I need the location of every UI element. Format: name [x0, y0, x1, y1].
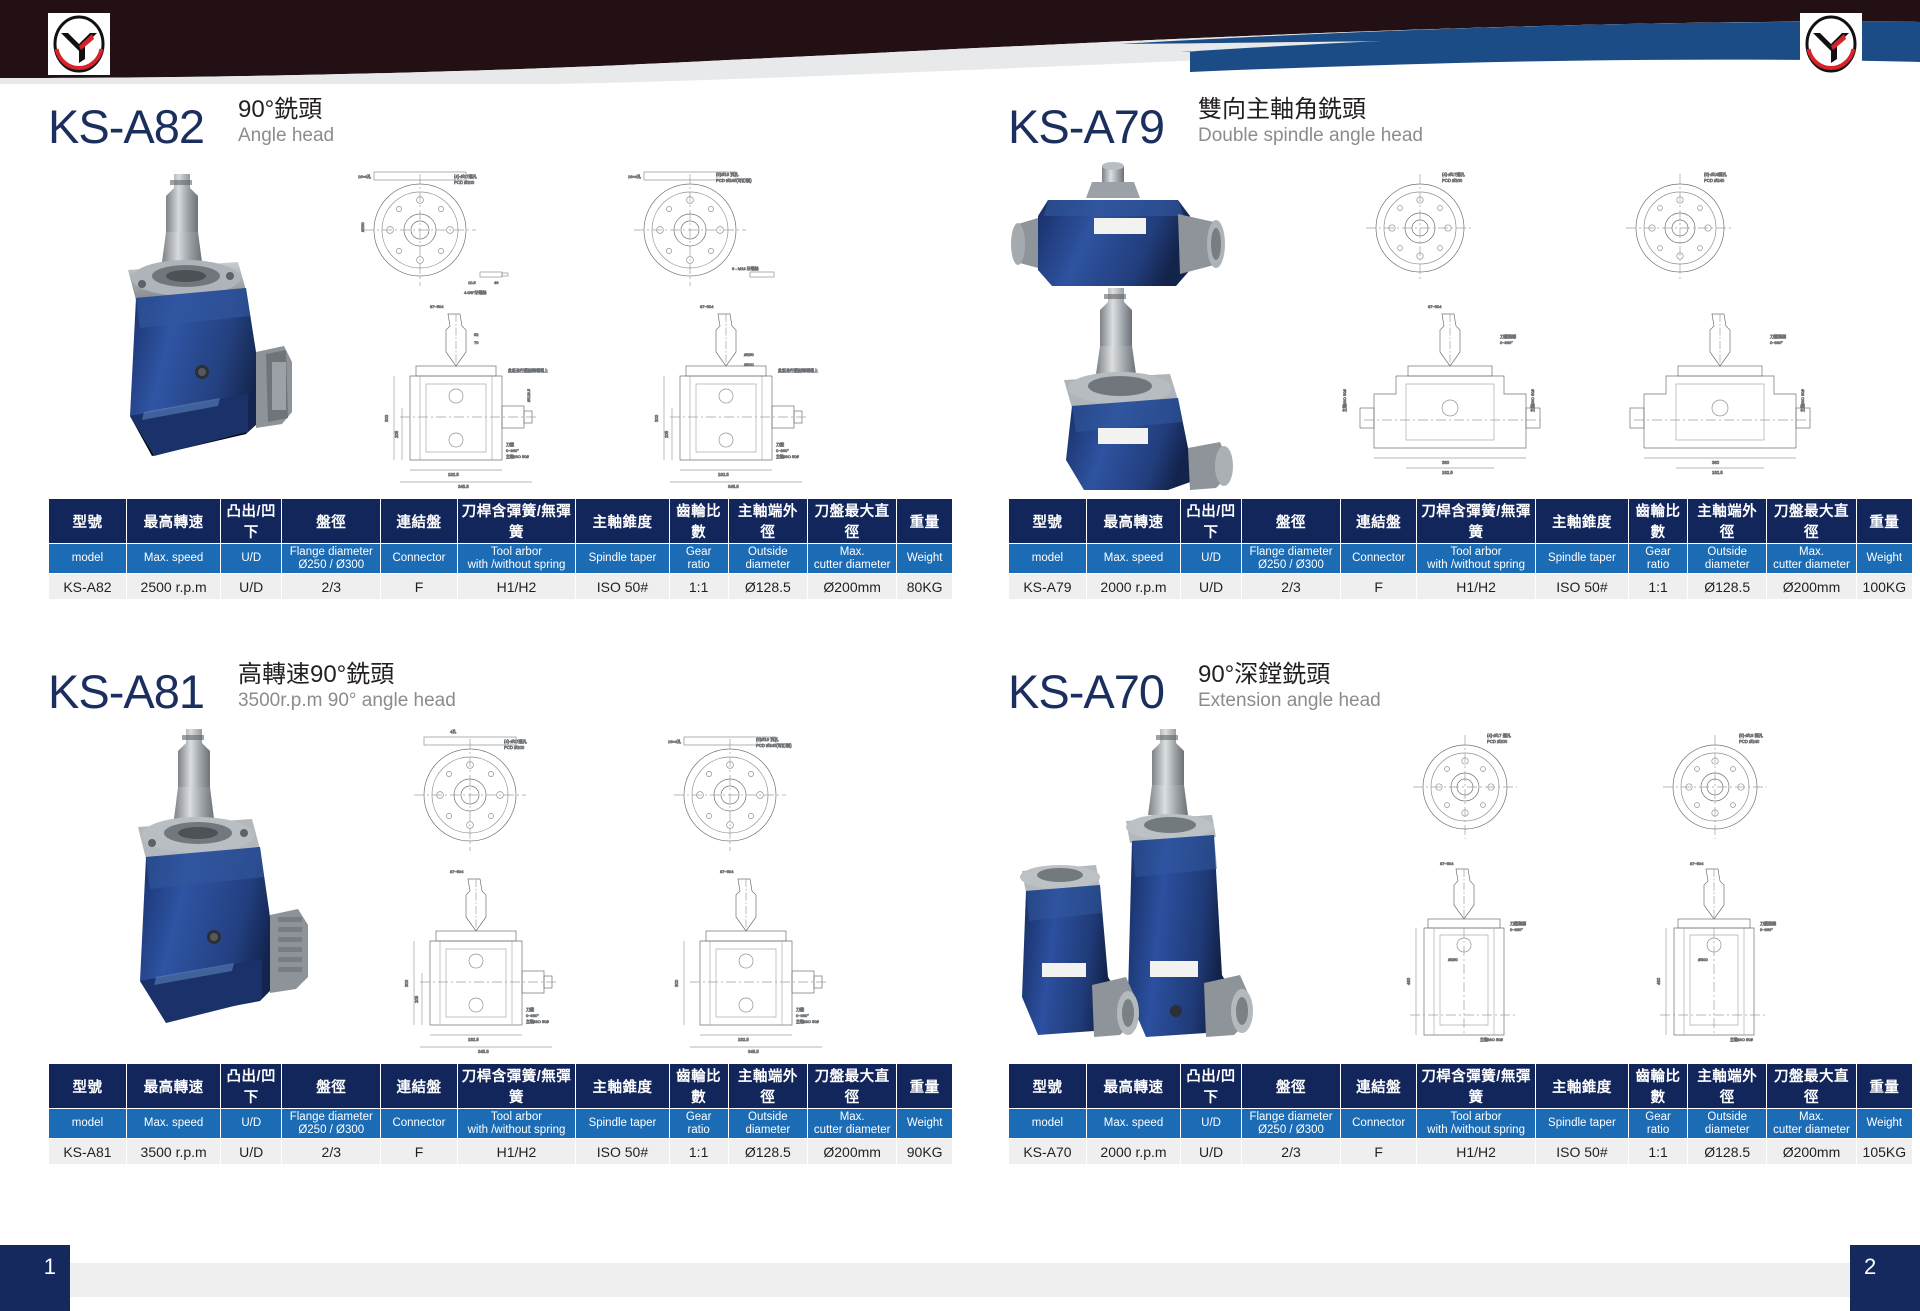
- spec-header-en-8: Outsidediameter: [1688, 544, 1767, 574]
- spec-header-cn-8: 主軸端外徑: [728, 1064, 807, 1109]
- svg-text:345.5: 345.5: [748, 1049, 759, 1054]
- spec-header-en-3: Flange diameterØ250 / Ø300: [282, 544, 381, 574]
- svg-text:刀盤: 刀盤: [526, 1006, 534, 1012]
- product-code: KS-A70: [1008, 668, 1164, 715]
- spec-header-en-6: Spindle taper: [1535, 1109, 1628, 1139]
- spec-value-6: ISO 50#: [576, 574, 669, 600]
- spec-header-cn-0: 型號: [49, 499, 127, 544]
- svg-text:主軸ISO 50#: 主軸ISO 50#: [1529, 389, 1535, 412]
- spec-value-5: H1/H2: [1417, 574, 1536, 600]
- spec-header-en-8: Outsidediameter: [728, 1109, 807, 1139]
- svg-text:87~504: 87~504: [1690, 861, 1704, 866]
- spec-header-en-5: Tool arborwith /without spring: [457, 544, 576, 574]
- svg-text:0~360°: 0~360°: [1770, 340, 1783, 345]
- spec-value-0: KS-A79: [1009, 574, 1087, 600]
- spec-header-en-2: U/D: [221, 544, 282, 574]
- spec-value-1: 2000 r.p.m: [1086, 1139, 1180, 1165]
- spec-value-10: 105KG: [1856, 1139, 1912, 1165]
- spec-header-cn-7: 齒輪比數: [669, 1064, 728, 1109]
- svg-text:460: 460: [1656, 977, 1661, 985]
- spec-header-cn-7: 齒輪比數: [1628, 1064, 1687, 1109]
- svg-text:Ø250: Ø250: [744, 352, 755, 357]
- spec-header-cn-2: 凸出/凹下: [221, 499, 282, 544]
- svg-text:PCD Ø240(可訂製): PCD Ø240(可訂製): [716, 177, 752, 184]
- product-title-ks-a82: KS-A82 90°銑頭 Angle head: [48, 96, 334, 150]
- svg-text:345.5: 345.5: [728, 484, 739, 489]
- svg-text:87~504: 87~504: [450, 869, 464, 874]
- spec-value-4: F: [1341, 1139, 1417, 1165]
- svg-text:主軸ISO 50#: 主軸ISO 50#: [526, 1018, 549, 1024]
- spec-header-cn-6: 主軸錐度: [576, 499, 669, 544]
- spec-header-en-9: Max.cutter diameter: [807, 1109, 896, 1139]
- svg-text:主軸ISO 50#: 主軸ISO 50#: [776, 453, 799, 459]
- svg-text:460: 460: [1406, 977, 1411, 985]
- spec-header-en-2: U/D: [1181, 544, 1242, 574]
- spec-header-row-cn: 型號 最高轉速 凸出/凹下 盤徑 連結盤 刀桿含彈簧/無彈簧 主軸錐度 齒輪比數…: [1009, 1064, 1913, 1109]
- product-title-en: Double spindle angle head: [1198, 125, 1423, 148]
- spec-value-2: U/D: [1181, 1139, 1242, 1165]
- spec-table-ks-a79: 型號 最高轉速 凸出/凹下 盤徑 連結盤 刀桿含彈簧/無彈簧 主軸錐度 齒輪比數…: [1008, 498, 1913, 600]
- product-photo: [1000, 725, 1260, 1055]
- spec-header-en-7: Gearratio: [669, 1109, 728, 1139]
- spec-header-cn-1: 最高轉速: [1086, 1064, 1180, 1109]
- spec-header-cn-5: 刀桿含彈簧/無彈簧: [457, 1064, 576, 1109]
- spec-header-cn-9: 刀盤最大直徑: [1767, 1064, 1856, 1109]
- svg-text:PCD Ø200: PCD Ø200: [454, 180, 475, 185]
- spec-header-en-9: Max.cutter diameter: [807, 544, 896, 574]
- svg-text:(8)-Ø19 圓孔: (8)-Ø19 圓孔: [1739, 732, 1764, 739]
- page-number-left: 1: [0, 1245, 70, 1311]
- svg-text:87~504: 87~504: [430, 304, 444, 309]
- spec-value-10: 100KG: [1856, 574, 1912, 600]
- product-visual: (4)-Ø17通孔 PCD Ø200 4孔: [40, 725, 980, 1055]
- product-photo: [1008, 160, 1278, 490]
- spec-value-5: H1/H2: [457, 1139, 576, 1165]
- spec-header-cn-10: 重量: [897, 1064, 953, 1109]
- spec-header-en-3: Flange diameterØ250 / Ø300: [1241, 1109, 1340, 1139]
- spec-header-en-10: Weight: [897, 544, 953, 574]
- spec-value-2: U/D: [1181, 574, 1242, 600]
- svg-text:刀盤指標: 刀盤指標: [1510, 920, 1526, 926]
- spec-header-en-1: Max. speed: [126, 544, 220, 574]
- spec-header-row-en: model Max. speed U/D Flange diameterØ250…: [49, 544, 953, 574]
- spec-value-6: ISO 50#: [1535, 1139, 1628, 1165]
- svg-text:182.5: 182.5: [718, 472, 729, 477]
- spec-header-en-7: Gearratio: [1628, 544, 1687, 574]
- svg-text:PCD Ø240(可訂製): PCD Ø240(可訂製): [756, 742, 792, 749]
- svg-text:Ø250: Ø250: [360, 221, 365, 232]
- svg-text:182.5: 182.5: [448, 472, 459, 477]
- spec-value-row: KS-A70 2000 r.p.m U/D 2/3 F H1/H2 ISO 50…: [1009, 1139, 1913, 1165]
- spec-header-cn-4: 連結盤: [1341, 499, 1417, 544]
- product-title-cn: 雙向主軸角銑頭: [1198, 96, 1423, 124]
- product-code: KS-A81: [48, 668, 204, 715]
- spec-value-3: 2/3: [282, 1139, 381, 1165]
- spec-header-en-5: Tool arborwith /without spring: [1417, 544, 1536, 574]
- spec-table-ks-a81: 型號 最高轉速 凸出/凹下 盤徑 連結盤 刀桿含彈簧/無彈簧 主軸錐度 齒輪比數…: [48, 1063, 953, 1165]
- spec-header-en-9: Max.cutter diameter: [1767, 1109, 1856, 1139]
- product-photo: [80, 725, 320, 1045]
- spec-header-en-0: model: [1009, 1109, 1087, 1139]
- svg-text:300: 300: [654, 414, 659, 422]
- svg-text:0~360°: 0~360°: [776, 448, 789, 453]
- spec-header-en-6: Spindle taper: [1535, 544, 1628, 574]
- svg-text:205: 205: [414, 995, 419, 1003]
- spec-header-cn-6: 主軸錐度: [1535, 1064, 1628, 1109]
- svg-text:205: 205: [394, 430, 399, 438]
- spec-header-cn-9: 刀盤最大直徑: [807, 499, 896, 544]
- svg-text:360: 360: [1712, 460, 1720, 465]
- svg-text:6 - M18 牙螺絲: 6 - M18 牙螺絲: [732, 265, 759, 271]
- svg-text:刀盤指標: 刀盤指標: [1500, 333, 1516, 339]
- technical-drawings: (4)-Ø17通孔 PCD Ø200 4孔: [330, 725, 980, 1055]
- spec-value-6: ISO 50#: [1535, 574, 1628, 600]
- company-logo-left: [48, 13, 110, 75]
- svg-text:87~504: 87~504: [720, 869, 734, 874]
- spec-header-row-en: model Max. speed U/D Flange diameterØ250…: [1009, 544, 1913, 574]
- technical-drawings: (4)-Ø17通孔 PCD Ø200: [1290, 160, 1920, 490]
- product-title-cn: 高轉速90°銑頭: [238, 661, 456, 689]
- svg-text:Ø300: Ø300: [1698, 957, 1709, 962]
- spec-header-cn-2: 凸出/凹下: [1181, 1064, 1242, 1109]
- svg-text:345.5: 345.5: [458, 484, 469, 489]
- svg-text:PCD Ø200: PCD Ø200: [504, 745, 525, 750]
- spec-header-en-1: Max. speed: [1086, 1109, 1180, 1139]
- svg-text:87~504: 87~504: [1440, 861, 1454, 866]
- spec-value-4: F: [381, 1139, 457, 1165]
- spec-value-0: KS-A81: [49, 1139, 127, 1165]
- svg-text:PCD Ø240: PCD Ø240: [1704, 178, 1725, 183]
- spec-header-cn-5: 刀桿含彈簧/無彈簧: [1417, 1064, 1536, 1109]
- spec-value-row: KS-A82 2500 r.p.m U/D 2/3 F H1/H2 ISO 50…: [49, 574, 953, 600]
- spec-value-5: H1/H2: [1417, 1139, 1536, 1165]
- spec-value-2: U/D: [221, 574, 282, 600]
- spec-header-cn-5: 刀桿含彈簧/無彈簧: [457, 499, 576, 544]
- svg-text:Ø300: Ø300: [744, 362, 755, 367]
- spec-value-1: 3500 r.p.m: [126, 1139, 220, 1165]
- product-code: KS-A82: [48, 103, 204, 150]
- svg-text:刀盤: 刀盤: [776, 441, 784, 447]
- spec-header-cn-9: 刀盤最大直徑: [1767, 499, 1856, 544]
- svg-text:0~360°: 0~360°: [526, 1013, 539, 1018]
- spec-header-row-cn: 型號 最高轉速 凸出/凹下 盤徑 連結盤 刀桿含彈簧/無彈簧 主軸錐度 齒輪比數…: [1009, 499, 1913, 544]
- spec-header-cn-1: 最高轉速: [126, 1064, 220, 1109]
- product-panel-ks-a70: KS-A70 90°深鏜銑頭 Extension angle head: [1000, 653, 1920, 1218]
- spec-header-cn-3: 盤徑: [282, 1064, 381, 1109]
- spec-header-en-3: Flange diameterØ250 / Ø300: [1241, 544, 1340, 574]
- svg-text:刀盤: 刀盤: [506, 441, 514, 447]
- svg-text:46: 46: [494, 280, 499, 285]
- svg-text:0~360°: 0~360°: [796, 1013, 809, 1018]
- spec-header-cn-0: 型號: [1009, 499, 1087, 544]
- svg-text:主軸ISO 50#: 主軸ISO 50#: [796, 1018, 819, 1024]
- svg-text:PCD Ø200: PCD Ø200: [1487, 739, 1508, 744]
- spec-value-4: F: [381, 574, 457, 600]
- svg-text:70: 70: [474, 340, 479, 345]
- svg-text:16×4孔: 16×4孔: [628, 173, 641, 179]
- spec-value-8: Ø128.5: [728, 574, 807, 600]
- svg-text:300: 300: [674, 979, 679, 987]
- spec-header-en-10: Weight: [1856, 544, 1912, 574]
- product-title-en: Angle head: [238, 125, 334, 148]
- svg-text:300: 300: [404, 979, 409, 987]
- spec-value-7: 1:1: [1628, 1139, 1687, 1165]
- spec-header-en-4: Connector: [381, 544, 457, 574]
- spec-header-en-7: Gearratio: [669, 544, 728, 574]
- spec-header-en-7: Gearratio: [1628, 1109, 1687, 1139]
- technical-drawings: (4)-Ø17通孔 PCD Ø200 16×4孔 Ø250 10.5 46 4-…: [330, 160, 980, 490]
- spec-value-7: 1:1: [669, 1139, 728, 1165]
- spec-header-cn-9: 刀盤最大直徑: [807, 1064, 896, 1109]
- spec-header-en-6: Spindle taper: [576, 544, 669, 574]
- spec-value-9: Ø200mm: [1767, 1139, 1856, 1165]
- svg-text:87~504: 87~504: [1428, 304, 1442, 309]
- spec-value-7: 1:1: [669, 574, 728, 600]
- spec-value-8: Ø128.5: [728, 1139, 807, 1165]
- spec-header-en-9: Max.cutter diameter: [1767, 544, 1856, 574]
- spec-header-cn-2: 凸出/凹下: [1181, 499, 1242, 544]
- svg-text:主軸ISO 50#: 主軸ISO 50#: [1730, 1036, 1753, 1042]
- spec-header-en-5: Tool arborwith /without spring: [457, 1109, 576, 1139]
- spec-value-6: ISO 50#: [576, 1139, 669, 1165]
- spec-header-en-2: U/D: [221, 1109, 282, 1139]
- spec-header-cn-7: 齒輪比數: [669, 499, 728, 544]
- svg-text:此板自行搭配轉環環上: 此板自行搭配轉環環上: [778, 367, 818, 373]
- svg-text:主軸ISO 50#: 主軸ISO 50#: [1341, 389, 1347, 412]
- spec-value-9: Ø200mm: [1767, 574, 1856, 600]
- product-panel-ks-a79: KS-A79 雙向主軸角銑頭 Double spindle angle head: [1000, 88, 1920, 653]
- spec-value-10: 90KG: [897, 1139, 953, 1165]
- spec-header-cn-10: 重量: [1856, 499, 1912, 544]
- svg-text:345.5: 345.5: [478, 1049, 489, 1054]
- spec-header-en-4: Connector: [1341, 544, 1417, 574]
- spec-header-cn-8: 主軸端外徑: [1688, 499, 1767, 544]
- spec-header-row-cn: 型號 最高轉速 凸出/凹下 盤徑 連結盤 刀桿含彈簧/無彈簧 主軸錐度 齒輪比數…: [49, 1064, 953, 1109]
- spec-header-cn-0: 型號: [1009, 1064, 1087, 1109]
- svg-text:16×4孔: 16×4孔: [358, 173, 371, 179]
- svg-text:刀盤: 刀盤: [796, 1006, 804, 1012]
- product-panel-ks-a82: KS-A82 90°銑頭 Angle head: [40, 88, 980, 653]
- spec-value-10: 80KG: [897, 574, 953, 600]
- svg-text:182.5: 182.5: [1712, 470, 1723, 475]
- spec-header-en-4: Connector: [1341, 1109, 1417, 1139]
- spec-header-en-0: model: [1009, 544, 1087, 574]
- spec-header-en-8: Outsidediameter: [728, 544, 807, 574]
- page-number-right: 2: [1850, 1245, 1920, 1311]
- svg-text:主軸ISO 50#: 主軸ISO 50#: [1799, 389, 1805, 412]
- spec-header-en-3: Flange diameterØ250 / Ø300: [282, 1109, 381, 1139]
- svg-text:(4)-Ø17 通孔: (4)-Ø17 通孔: [1487, 732, 1512, 739]
- svg-text:主軸ISO 50#: 主軸ISO 50#: [1480, 1036, 1503, 1042]
- spec-header-en-2: U/D: [1181, 1109, 1242, 1139]
- spec-value-8: Ø128.5: [1688, 574, 1767, 600]
- spec-value-2: U/D: [221, 1139, 282, 1165]
- spec-header-cn-4: 連結盤: [381, 499, 457, 544]
- spec-value-9: Ø200mm: [807, 1139, 896, 1165]
- spec-table-ks-a70: 型號 最高轉速 凸出/凹下 盤徑 連結盤 刀桿含彈簧/無彈簧 主軸錐度 齒輪比數…: [1008, 1063, 1913, 1165]
- spec-header-cn-4: 連結盤: [1341, 1064, 1417, 1109]
- spec-header-cn-4: 連結盤: [381, 1064, 457, 1109]
- svg-text:PCD Ø240: PCD Ø240: [1739, 739, 1760, 744]
- spec-header-en-5: Tool arborwith /without spring: [1417, 1109, 1536, 1139]
- spec-header-row-cn: 型號 最高轉速 凸出/凹下 盤徑 連結盤 刀桿含彈簧/無彈簧 主軸錐度 齒輪比數…: [49, 499, 953, 544]
- spec-header-en-1: Max. speed: [1086, 544, 1180, 574]
- svg-text:360: 360: [1442, 460, 1450, 465]
- spec-header-en-10: Weight: [897, 1109, 953, 1139]
- svg-text:(8)Ø19 沉孔: (8)Ø19 沉孔: [716, 171, 739, 178]
- svg-text:0~360°: 0~360°: [1510, 927, 1523, 932]
- product-code: KS-A79: [1008, 103, 1164, 150]
- svg-text:205: 205: [664, 430, 669, 438]
- spec-header-en-10: Weight: [1856, 1109, 1912, 1139]
- spec-header-cn-10: 重量: [897, 499, 953, 544]
- product-photo: [70, 166, 300, 476]
- spec-header-row-en: model Max. speed U/D Flange diameterØ250…: [1009, 1109, 1913, 1139]
- spec-value-8: Ø128.5: [1688, 1139, 1767, 1165]
- product-panel-ks-a81: KS-A81 高轉速90°銑頭 3500r.p.m 90° angle head: [40, 653, 980, 1218]
- spec-header-en-0: model: [49, 1109, 127, 1139]
- spec-value-3: 2/3: [282, 574, 381, 600]
- spec-header-cn-6: 主軸錐度: [576, 1064, 669, 1109]
- svg-text:Ø128.5: Ø128.5: [526, 388, 531, 402]
- spec-value-1: 2000 r.p.m: [1086, 574, 1180, 600]
- footer-bar: [0, 1263, 1920, 1297]
- svg-text:刀盤指標: 刀盤指標: [1770, 333, 1786, 339]
- spec-header-cn-8: 主軸端外徑: [1688, 1064, 1767, 1109]
- spec-value-3: 2/3: [1241, 574, 1340, 600]
- header-banner: [0, 0, 1920, 88]
- product-visual: (4)-Ø17 通孔 PCD Ø200: [1000, 725, 1920, 1055]
- product-title-ks-a81: KS-A81 高轉速90°銑頭 3500r.p.m 90° angle head: [48, 661, 456, 715]
- svg-text:4-5/8"牙螺絲: 4-5/8"牙螺絲: [464, 289, 487, 295]
- spec-value-4: F: [1341, 574, 1417, 600]
- svg-text:(8)-Ø19圓孔: (8)-Ø19圓孔: [1704, 171, 1728, 178]
- svg-text:52: 52: [474, 332, 479, 337]
- svg-text:Ø250: Ø250: [1448, 957, 1459, 962]
- spec-value-0: KS-A70: [1009, 1139, 1087, 1165]
- spec-value-7: 1:1: [1628, 574, 1687, 600]
- spec-header-en-1: Max. speed: [126, 1109, 220, 1139]
- svg-text:182.5: 182.5: [468, 1037, 479, 1042]
- svg-text:0~360°: 0~360°: [1760, 927, 1773, 932]
- svg-text:182.5: 182.5: [738, 1037, 749, 1042]
- page-footer: 1 2: [0, 1223, 1920, 1311]
- svg-text:16×4孔: 16×4孔: [668, 738, 681, 744]
- product-visual: (4)-Ø17通孔 PCD Ø200: [1000, 160, 1920, 490]
- product-title-en: Extension angle head: [1198, 690, 1381, 713]
- spec-header-cn-3: 盤徑: [282, 499, 381, 544]
- spec-header-en-0: model: [49, 544, 127, 574]
- spec-value-row: KS-A79 2000 r.p.m U/D 2/3 F H1/H2 ISO 50…: [1009, 574, 1913, 600]
- product-title-en: 3500r.p.m 90° angle head: [238, 690, 456, 713]
- product-title-cn: 90°銑頭: [238, 96, 334, 124]
- svg-text:(4)-Ø17通孔: (4)-Ø17通孔: [504, 738, 528, 745]
- spec-value-row: KS-A81 3500 r.p.m U/D 2/3 F H1/H2 ISO 50…: [49, 1139, 953, 1165]
- product-title-cn: 90°深鏜銑頭: [1198, 661, 1381, 689]
- spec-header-cn-7: 齒輪比數: [1628, 499, 1687, 544]
- svg-text:(4)-Ø17通孔: (4)-Ø17通孔: [1442, 171, 1466, 178]
- svg-text:10.5: 10.5: [468, 280, 477, 285]
- catalog-sheet: KS-A82 90°銑頭 Angle head: [0, 88, 1920, 1223]
- spec-value-0: KS-A82: [49, 574, 127, 600]
- company-logo-right: [1800, 13, 1862, 75]
- product-title-ks-a70: KS-A70 90°深鏜銑頭 Extension angle head: [1008, 661, 1381, 715]
- svg-text:300: 300: [384, 414, 389, 422]
- svg-text:(8)Ø19 沉孔: (8)Ø19 沉孔: [756, 736, 779, 743]
- spec-header-en-6: Spindle taper: [576, 1109, 669, 1139]
- spec-header-cn-3: 盤徑: [1241, 1064, 1340, 1109]
- spec-header-en-8: Outsidediameter: [1688, 1109, 1767, 1139]
- svg-text:182.5: 182.5: [1442, 470, 1453, 475]
- spec-table-ks-a82: 型號 最高轉速 凸出/凹下 盤徑 連結盤 刀桿含彈簧/無彈簧 主軸錐度 齒輪比數…: [48, 498, 953, 600]
- spec-value-9: Ø200mm: [807, 574, 896, 600]
- spec-header-cn-1: 最高轉速: [126, 499, 220, 544]
- spec-header-cn-3: 盤徑: [1241, 499, 1340, 544]
- spec-value-1: 2500 r.p.m: [126, 574, 220, 600]
- svg-text:87~504: 87~504: [700, 304, 714, 309]
- svg-text:0~360°: 0~360°: [506, 448, 519, 453]
- svg-text:0~360°: 0~360°: [1500, 340, 1513, 345]
- technical-drawings: (4)-Ø17 通孔 PCD Ø200: [1290, 725, 1920, 1055]
- spec-value-5: H1/H2: [457, 574, 576, 600]
- spec-header-cn-2: 凸出/凹下: [221, 1064, 282, 1109]
- svg-text:此板自行搭配轉環環上: 此板自行搭配轉環環上: [508, 367, 548, 373]
- spec-header-cn-8: 主軸端外徑: [728, 499, 807, 544]
- svg-text:(4)-Ø17通孔: (4)-Ø17通孔: [454, 173, 478, 180]
- svg-text:4孔: 4孔: [450, 728, 456, 734]
- spec-header-cn-10: 重量: [1856, 1064, 1912, 1109]
- product-visual: (4)-Ø17通孔 PCD Ø200 16×4孔 Ø250 10.5 46 4-…: [40, 160, 980, 490]
- spec-header-en-4: Connector: [381, 1109, 457, 1139]
- spec-header-row-en: model Max. speed U/D Flange diameterØ250…: [49, 1109, 953, 1139]
- svg-text:PCD Ø200: PCD Ø200: [1442, 178, 1463, 183]
- svg-text:刀盤指標: 刀盤指標: [1760, 920, 1776, 926]
- spec-header-cn-6: 主軸錐度: [1535, 499, 1628, 544]
- spec-header-cn-1: 最高轉速: [1086, 499, 1180, 544]
- spec-header-cn-0: 型號: [49, 1064, 127, 1109]
- product-title-ks-a79: KS-A79 雙向主軸角銑頭 Double spindle angle head: [1008, 96, 1423, 150]
- spec-value-3: 2/3: [1241, 1139, 1340, 1165]
- svg-text:主軸ISO 50#: 主軸ISO 50#: [506, 453, 529, 459]
- spec-header-cn-5: 刀桿含彈簧/無彈簧: [1417, 499, 1536, 544]
